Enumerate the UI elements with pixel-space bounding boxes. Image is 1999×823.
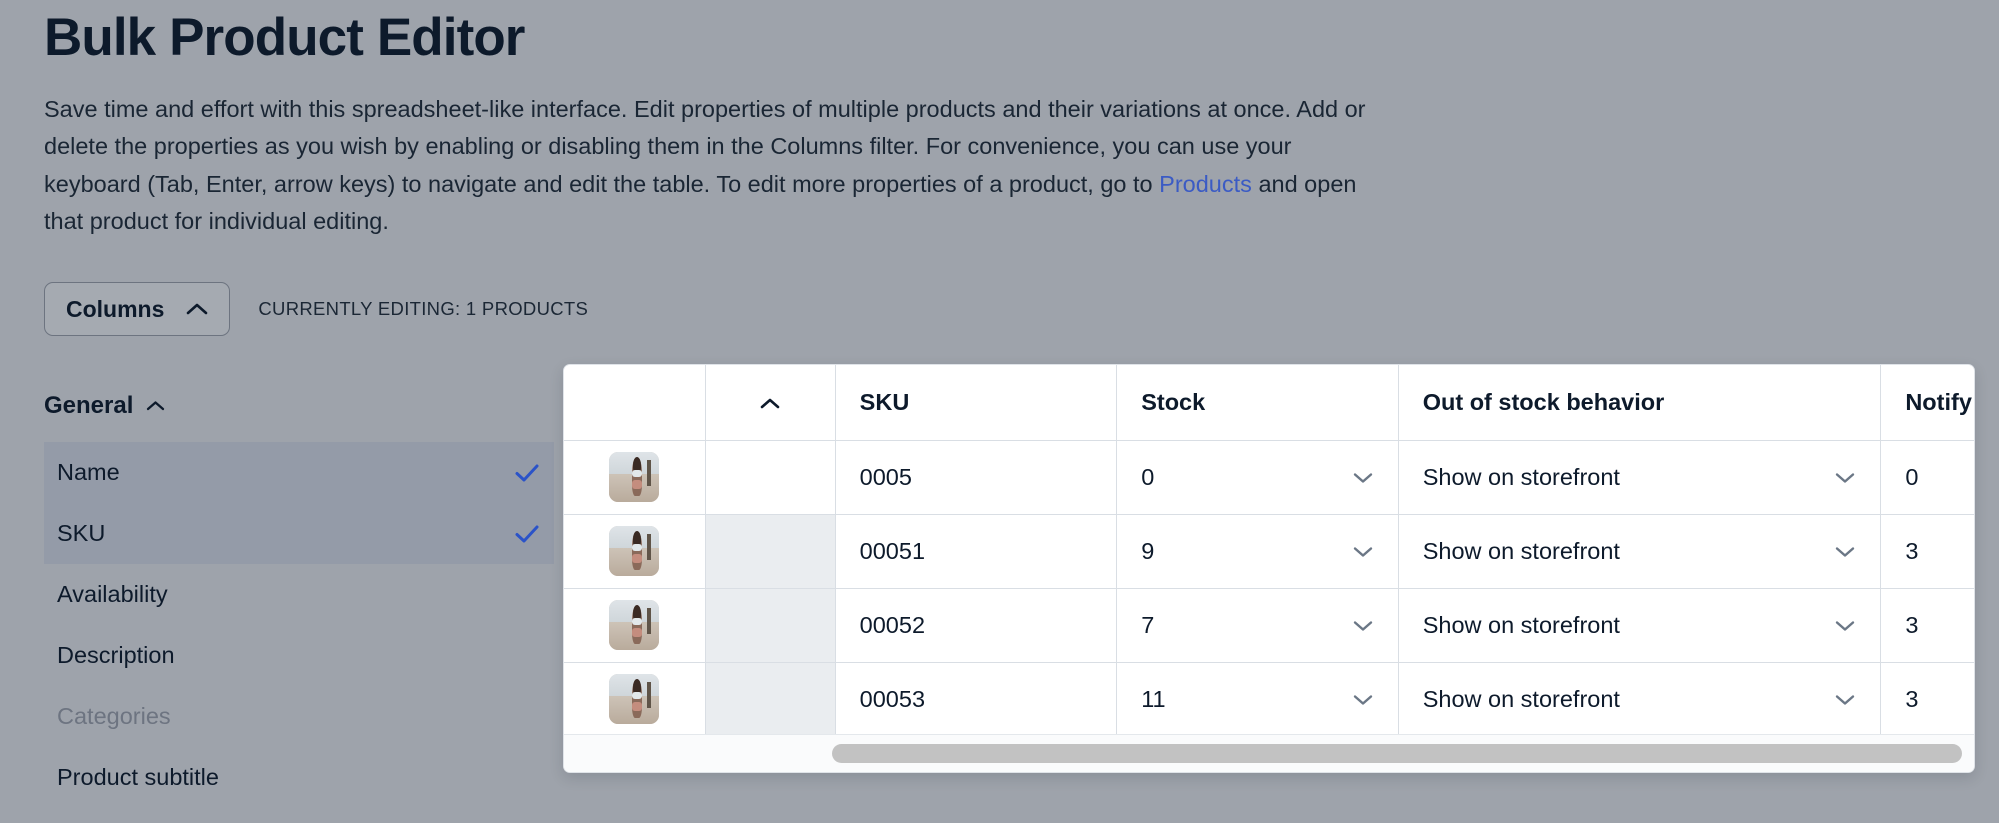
- product-thumbnail: [609, 526, 659, 576]
- cell-oos-value: Show on storefront: [1423, 686, 1620, 713]
- cell-notify-when-stock[interactable]: 3: [1881, 662, 1974, 736]
- cell-sku[interactable]: 00051: [835, 514, 1117, 588]
- row-thumbnail-cell: [564, 588, 705, 662]
- chevron-down-icon[interactable]: [1834, 619, 1856, 632]
- sidebar-item-categories[interactable]: Categories: [44, 686, 554, 747]
- column-header-sku[interactable]: SKU: [835, 365, 1117, 440]
- check-icon: [514, 524, 540, 544]
- sidebar-item-availability[interactable]: Availability: [44, 564, 554, 625]
- cell-sku[interactable]: 0005: [835, 440, 1117, 514]
- chevron-up-icon: [186, 302, 208, 316]
- product-thumbnail: [609, 452, 659, 502]
- cell-oos-value: Show on storefront: [1423, 464, 1620, 491]
- sidebar-item-label: Description: [57, 642, 175, 669]
- cell-oos-value: Show on storefront: [1423, 612, 1620, 639]
- row-expand-cell[interactable]: [705, 588, 835, 662]
- chevron-down-icon[interactable]: [1352, 471, 1374, 484]
- sidebar-item-label: Product subtitle: [57, 764, 219, 791]
- products-link[interactable]: Products: [1159, 171, 1252, 197]
- cell-out-of-stock-behavior[interactable]: Show on storefront: [1398, 440, 1881, 514]
- cell-stock[interactable]: 0: [1117, 440, 1399, 514]
- table-row[interactable]: 00053 11 Show on: [564, 662, 1974, 736]
- column-header-expand[interactable]: [705, 365, 835, 440]
- table-row[interactable]: 00052 7 Show on s: [564, 588, 1974, 662]
- column-header-out-of-stock-behavior[interactable]: Out of stock behavior: [1398, 365, 1881, 440]
- sidebar-item-label: Name: [57, 459, 120, 486]
- cell-stock[interactable]: 7: [1117, 588, 1399, 662]
- row-thumbnail-cell: [564, 662, 705, 736]
- sidebar-item-product-subtitle[interactable]: Product subtitle: [44, 747, 554, 808]
- column-header-image: [564, 365, 705, 440]
- sidebar-item-sku[interactable]: SKU: [44, 503, 554, 564]
- chevron-down-icon[interactable]: [1352, 693, 1374, 706]
- columns-button[interactable]: Columns: [44, 282, 230, 336]
- table-scroll-area[interactable]: SKU Stock Out of stock behavior Notify w…: [564, 365, 1974, 772]
- chevron-down-icon[interactable]: [1352, 619, 1374, 632]
- sidebar-item-label: Categories: [57, 703, 171, 730]
- cell-stock-value: 9: [1141, 538, 1154, 565]
- table-head: SKU Stock Out of stock behavior Notify w…: [564, 365, 1974, 440]
- product-thumbnail: [609, 674, 659, 724]
- column-header-notify-when-stock[interactable]: Notify when stock: [1881, 365, 1974, 440]
- bulk-editor-table-panel: SKU Stock Out of stock behavior Notify w…: [563, 364, 1975, 773]
- row-expand-cell[interactable]: [705, 440, 835, 514]
- cell-notify-when-stock[interactable]: 3: [1881, 588, 1974, 662]
- cell-stock[interactable]: 11: [1117, 662, 1399, 736]
- sidebar-item-label: Availability: [57, 581, 168, 608]
- chevron-up-icon[interactable]: [759, 397, 781, 410]
- cell-stock-value: 0: [1141, 464, 1154, 491]
- sidebar-item-name[interactable]: Name: [44, 442, 554, 503]
- table-body: 0005 0 Show on st: [564, 440, 1974, 736]
- columns-group-label: General: [44, 392, 133, 420]
- cell-stock-value: 7: [1141, 612, 1154, 639]
- columns-filter-panel: General Name SKU Availabilit: [44, 392, 554, 808]
- columns-list: Name SKU Availability Description Catego…: [44, 442, 554, 808]
- table-header-row: SKU Stock Out of stock behavior Notify w…: [564, 365, 1974, 440]
- description-line-1: Save time and effort with this spreadshe…: [44, 96, 1291, 122]
- cell-out-of-stock-behavior[interactable]: Show on storefront: [1398, 588, 1881, 662]
- table-row[interactable]: 00051 9 Show on s: [564, 514, 1974, 588]
- toolbar: Columns CURRENTLY EDITING: 1 PRODUCTS: [44, 282, 588, 336]
- product-thumbnail: [609, 600, 659, 650]
- row-expand-cell[interactable]: [705, 514, 835, 588]
- columns-button-label: Columns: [66, 296, 164, 323]
- columns-group-general[interactable]: General: [44, 392, 554, 420]
- row-thumbnail-cell: [564, 440, 705, 514]
- chevron-down-icon[interactable]: [1834, 545, 1856, 558]
- cell-sku[interactable]: 00053: [835, 662, 1117, 736]
- check-icon: [514, 463, 540, 483]
- chevron-down-icon[interactable]: [1834, 471, 1856, 484]
- bulk-editor-table: SKU Stock Out of stock behavior Notify w…: [564, 365, 1974, 737]
- table-row[interactable]: 0005 0 Show on st: [564, 440, 1974, 514]
- cell-oos-value: Show on storefront: [1423, 538, 1620, 565]
- row-expand-cell[interactable]: [705, 662, 835, 736]
- cell-notify-when-stock[interactable]: 3: [1881, 514, 1974, 588]
- page-header: Bulk Product Editor Save time and effort…: [44, 8, 1444, 241]
- cell-out-of-stock-behavior[interactable]: Show on storefront: [1398, 662, 1881, 736]
- page-title: Bulk Product Editor: [44, 8, 1444, 69]
- cell-stock-value: 11: [1141, 686, 1165, 713]
- chevron-down-icon[interactable]: [1834, 693, 1856, 706]
- chevron-down-icon[interactable]: [1352, 545, 1374, 558]
- sidebar-item-label: SKU: [57, 520, 105, 547]
- sidebar-item-description[interactable]: Description: [44, 625, 554, 686]
- currently-editing-status: CURRENTLY EDITING: 1 PRODUCTS: [258, 298, 588, 320]
- cell-stock[interactable]: 9: [1117, 514, 1399, 588]
- page-description: Save time and effort with this spreadshe…: [44, 91, 1374, 241]
- chevron-up-icon: [146, 400, 165, 412]
- cell-out-of-stock-behavior[interactable]: Show on storefront: [1398, 514, 1881, 588]
- column-header-stock[interactable]: Stock: [1117, 365, 1399, 440]
- cell-notify-when-stock[interactable]: 0: [1881, 440, 1974, 514]
- cell-sku[interactable]: 00052: [835, 588, 1117, 662]
- horizontal-scrollbar-thumb[interactable]: [832, 744, 1962, 763]
- horizontal-scrollbar-track[interactable]: [564, 734, 1974, 772]
- row-thumbnail-cell: [564, 514, 705, 588]
